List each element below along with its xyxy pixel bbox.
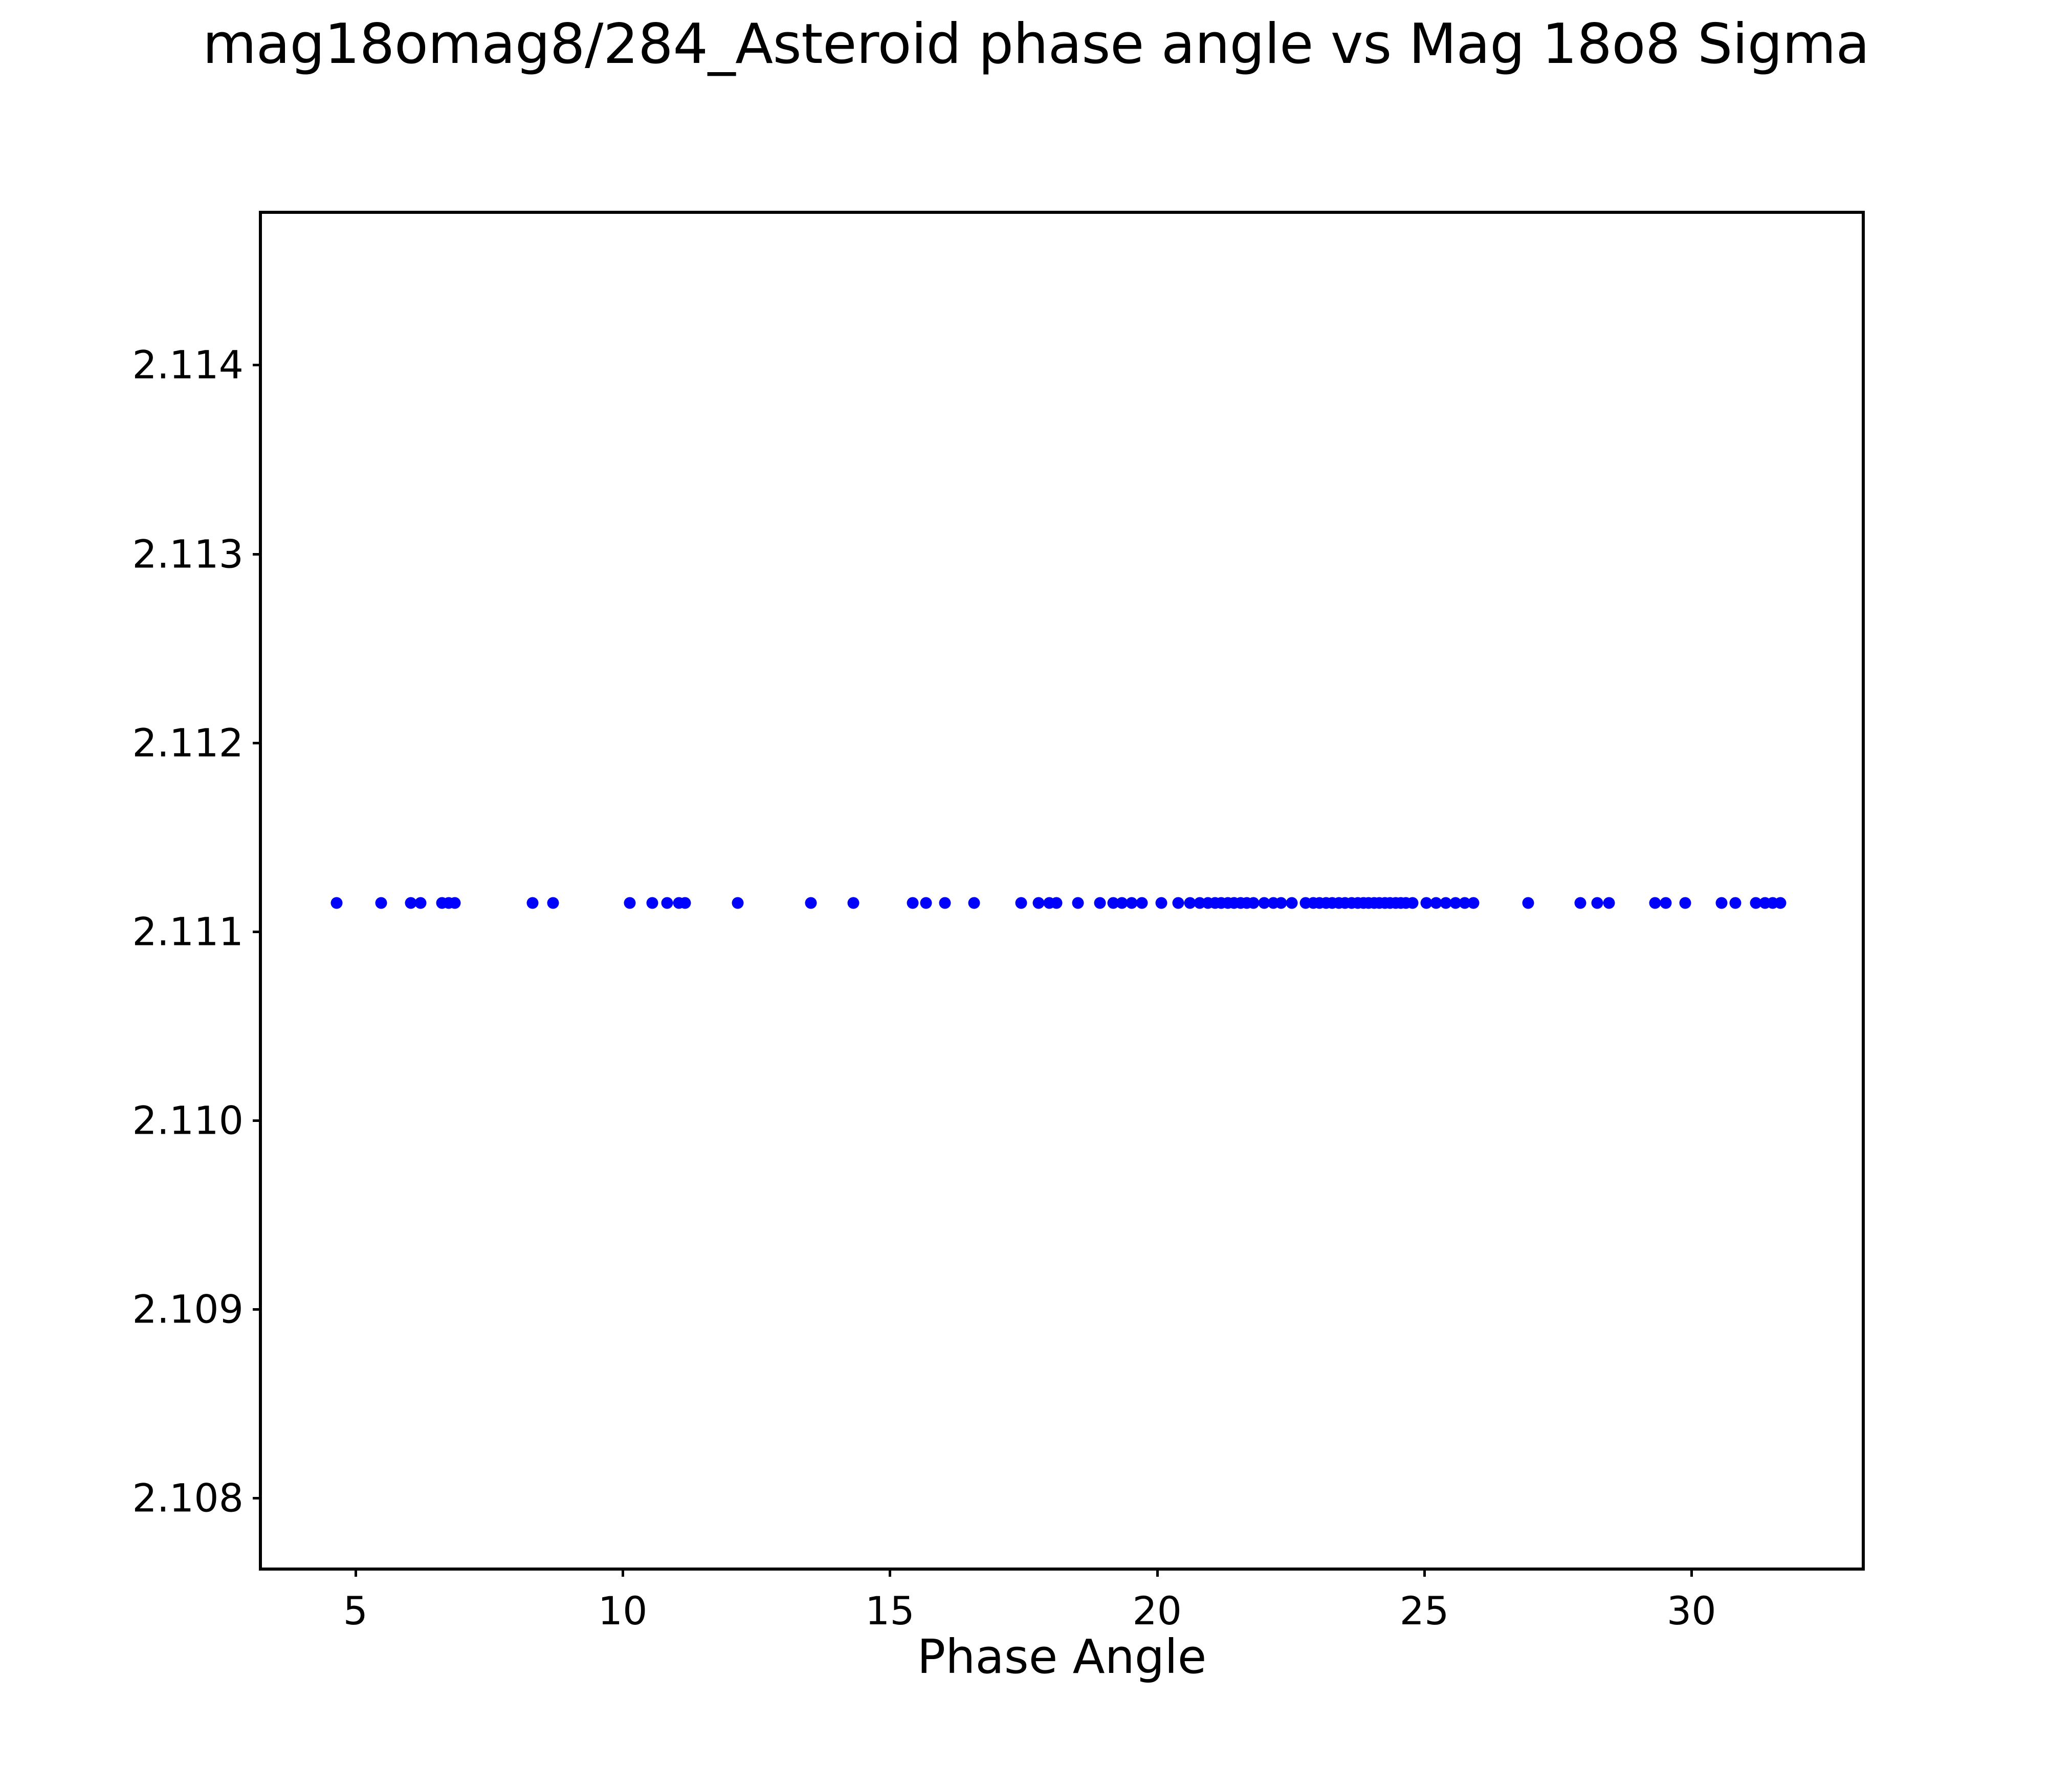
- data-point: [1649, 897, 1661, 909]
- x-tick-label: 20: [1132, 1588, 1182, 1634]
- data-point: [1729, 897, 1741, 909]
- y-tick-mark: [253, 742, 262, 744]
- data-point: [1468, 897, 1480, 909]
- data-point: [805, 897, 817, 909]
- data-point: [1136, 897, 1148, 909]
- y-tick-label: 2.111: [132, 909, 244, 954]
- data-point: [1286, 897, 1297, 909]
- data-point: [1094, 897, 1106, 909]
- x-tick-label: 15: [865, 1588, 915, 1634]
- data-point: [1715, 897, 1727, 909]
- x-tick-mark: [1423, 1568, 1426, 1577]
- data-point: [968, 897, 980, 909]
- x-tick-mark: [355, 1568, 357, 1577]
- data-point: [1275, 897, 1287, 909]
- data-point: [547, 897, 559, 909]
- data-point: [939, 897, 951, 909]
- scatter-points-layer: [262, 214, 1862, 1568]
- data-point: [375, 897, 387, 909]
- x-tick-mark: [1156, 1568, 1159, 1577]
- y-tick-mark: [253, 1497, 262, 1499]
- data-point: [1774, 897, 1786, 909]
- y-tick-label: 2.109: [132, 1287, 244, 1332]
- x-tick-label: 30: [1667, 1588, 1716, 1634]
- data-point: [920, 897, 932, 909]
- data-point: [1032, 897, 1044, 909]
- data-point: [646, 897, 658, 909]
- x-tick-mark: [622, 1568, 624, 1577]
- y-axis-label: mag18omag8: [63, 0, 125, 272]
- data-point: [1522, 897, 1534, 909]
- data-point: [1660, 897, 1672, 909]
- y-tick-label: 2.108: [132, 1475, 244, 1521]
- data-point: [331, 897, 343, 909]
- y-tick-mark: [253, 553, 262, 556]
- data-point: [624, 897, 635, 909]
- data-point: [661, 897, 673, 909]
- data-point: [679, 897, 691, 909]
- x-axis-label: Phase Angle: [259, 1629, 1865, 1684]
- data-point: [1016, 897, 1027, 909]
- y-tick-label: 2.110: [132, 1098, 244, 1143]
- x-tick-label: 25: [1400, 1588, 1449, 1634]
- data-point: [848, 897, 859, 909]
- y-tick-mark: [253, 364, 262, 366]
- y-tick-mark: [253, 931, 262, 933]
- x-tick-mark: [1690, 1568, 1693, 1577]
- data-point: [1156, 897, 1167, 909]
- chart-title: mag18omag8/284_Asteroid phase angle vs M…: [0, 15, 2072, 73]
- data-point: [732, 897, 743, 909]
- y-tick-mark: [253, 1308, 262, 1311]
- figure-canvas: mag18omag8/284_Asteroid phase angle vs M…: [0, 0, 2072, 1765]
- y-tick-label: 2.114: [132, 342, 244, 388]
- data-point: [1592, 897, 1603, 909]
- data-point: [1679, 897, 1691, 909]
- data-point: [415, 897, 427, 909]
- data-point: [1407, 897, 1419, 909]
- data-point: [1603, 897, 1615, 909]
- data-point: [1173, 897, 1184, 909]
- data-point: [907, 897, 919, 909]
- data-point: [1126, 897, 1137, 909]
- y-tick-label: 2.112: [132, 720, 244, 765]
- data-point: [526, 897, 538, 909]
- data-point: [1051, 897, 1063, 909]
- data-point: [1575, 897, 1586, 909]
- x-tick-label: 5: [343, 1588, 368, 1634]
- y-tick-mark: [253, 1119, 262, 1122]
- plot-area: 2.1082.1092.1102.1112.1122.1132.114 5101…: [259, 211, 1865, 1571]
- data-point: [1072, 897, 1084, 909]
- x-tick-label: 10: [598, 1588, 648, 1634]
- data-point: [1247, 897, 1259, 909]
- y-tick-label: 2.113: [132, 531, 244, 577]
- x-tick-mark: [889, 1568, 891, 1577]
- data-point: [449, 897, 461, 909]
